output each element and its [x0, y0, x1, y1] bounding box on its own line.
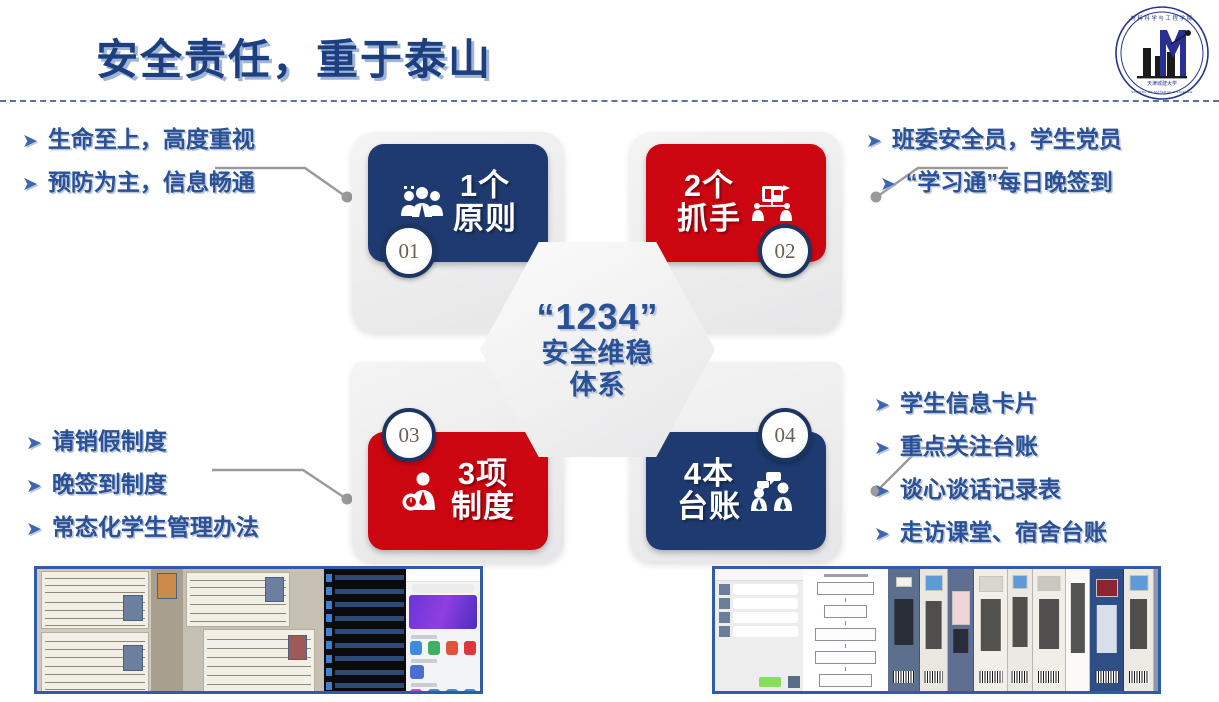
- bullet-text: “学习通”每日晚签到: [906, 171, 1113, 194]
- block-02-badge: 02: [758, 224, 812, 278]
- block-04-badge: 04: [758, 408, 812, 462]
- block-02-label: 2个 抓手: [677, 170, 741, 235]
- arrow-marker-icon: ➤: [26, 477, 42, 496]
- bullet-text: 晚签到制度: [52, 473, 167, 496]
- evidence-photos-right[interactable]: [712, 566, 1161, 694]
- document-file-list: [324, 569, 406, 691]
- archive-binders-photo: [888, 569, 1158, 691]
- bullet-item: ➤ 晚签到制度: [26, 473, 259, 496]
- presentation-board-icon: [749, 183, 795, 223]
- arrow-marker-icon: ➤: [874, 439, 890, 458]
- scanned-enrollment-forms-1: [37, 569, 183, 691]
- center-line-3: 体系: [570, 370, 626, 402]
- bullet-text: 常态化学生管理办法: [52, 516, 259, 539]
- bullet-item: ➤ 班委安全员，学生党员: [866, 128, 1122, 151]
- bullet-text: 学生信息卡片: [900, 392, 1038, 415]
- bullet-item: ➤ 常态化学生管理办法: [26, 516, 259, 539]
- bullet-item: ➤ 学生信息卡片: [874, 392, 1107, 415]
- bullet-group-bottom-left: ➤ 请销假制度 ➤ 晚签到制度 ➤ 常态化学生管理办法: [26, 430, 259, 559]
- arrow-marker-icon: ➤: [26, 434, 42, 453]
- two-people-chat-icon: [749, 470, 795, 512]
- arrow-marker-icon: ➤: [874, 525, 890, 544]
- block-04-label: 4本 台账: [677, 458, 741, 523]
- bullet-text: 走访课堂、宿舍台账: [900, 521, 1107, 544]
- arrow-marker-icon: ➤: [866, 132, 882, 151]
- bullet-item: ➤ 谈心谈话记录表: [874, 478, 1107, 501]
- bullet-text: 班委安全员，学生党员: [892, 128, 1122, 151]
- arrow-marker-icon: ➤: [22, 175, 38, 194]
- bullet-item: ➤ 生命至上，高度重视: [22, 128, 255, 151]
- block-01-badge: 01: [382, 224, 436, 278]
- bullet-text: 重点关注台账: [900, 435, 1038, 458]
- bullet-group-top-right: ➤ 班委安全员，学生党员 ➤ “学习通”每日晚签到: [866, 128, 1122, 214]
- arrow-marker-icon: ➤: [880, 175, 896, 194]
- bullet-item: ➤ 走访课堂、宿舍台账: [874, 521, 1107, 544]
- group-people-icon: [399, 184, 445, 222]
- evidence-photos-left[interactable]: [34, 566, 483, 694]
- bullet-text: 预防为主，信息畅通: [48, 171, 255, 194]
- bullet-group-bottom-right: ➤ 学生信息卡片 ➤ 重点关注台账 ➤ 谈心谈话记录表 ➤ 走访课堂、宿舍台账: [874, 392, 1107, 564]
- bullet-item: ➤ 预防为主，信息畅通: [22, 171, 255, 194]
- slide-root: 安全责任，重于泰山 天津城建大学 SCHOOL OF MATERIALS SCI…: [0, 0, 1219, 702]
- center-line-1: “1234”: [536, 297, 658, 337]
- bullet-text: 生命至上，高度重视: [48, 128, 255, 151]
- group-chat-screenshot: [715, 569, 803, 691]
- arrow-marker-icon: ➤: [22, 132, 38, 151]
- arrow-marker-icon: ➤: [874, 482, 890, 501]
- bullet-item: ➤ 请销假制度: [26, 430, 259, 453]
- bullet-text: 谈心谈话记录表: [900, 478, 1061, 501]
- block-03-badge: 03: [382, 408, 436, 462]
- bullet-item: ➤ 重点关注台账: [874, 435, 1107, 458]
- block-03-label: 3项 制度: [451, 458, 515, 523]
- center-line-2: 安全维稳: [542, 338, 654, 370]
- block-01-label: 1个 原则: [453, 170, 517, 235]
- arrow-marker-icon: ➤: [874, 396, 890, 415]
- bullet-group-top-left: ➤ 生命至上，高度重视 ➤ 预防为主，信息畅通: [22, 128, 255, 214]
- central-diagram: 1个 原则 01 2个 抓手: [352, 132, 842, 562]
- mobile-app-screenshot: [406, 569, 480, 691]
- bullet-item: ➤ “学习通”每日晚签到: [866, 171, 1122, 194]
- person-clock-icon: [401, 470, 443, 512]
- workflow-document: [803, 569, 888, 691]
- arrow-marker-icon: ➤: [26, 520, 42, 539]
- scanned-enrollment-forms-2: [183, 569, 324, 691]
- bullet-text: 请销假制度: [52, 430, 167, 453]
